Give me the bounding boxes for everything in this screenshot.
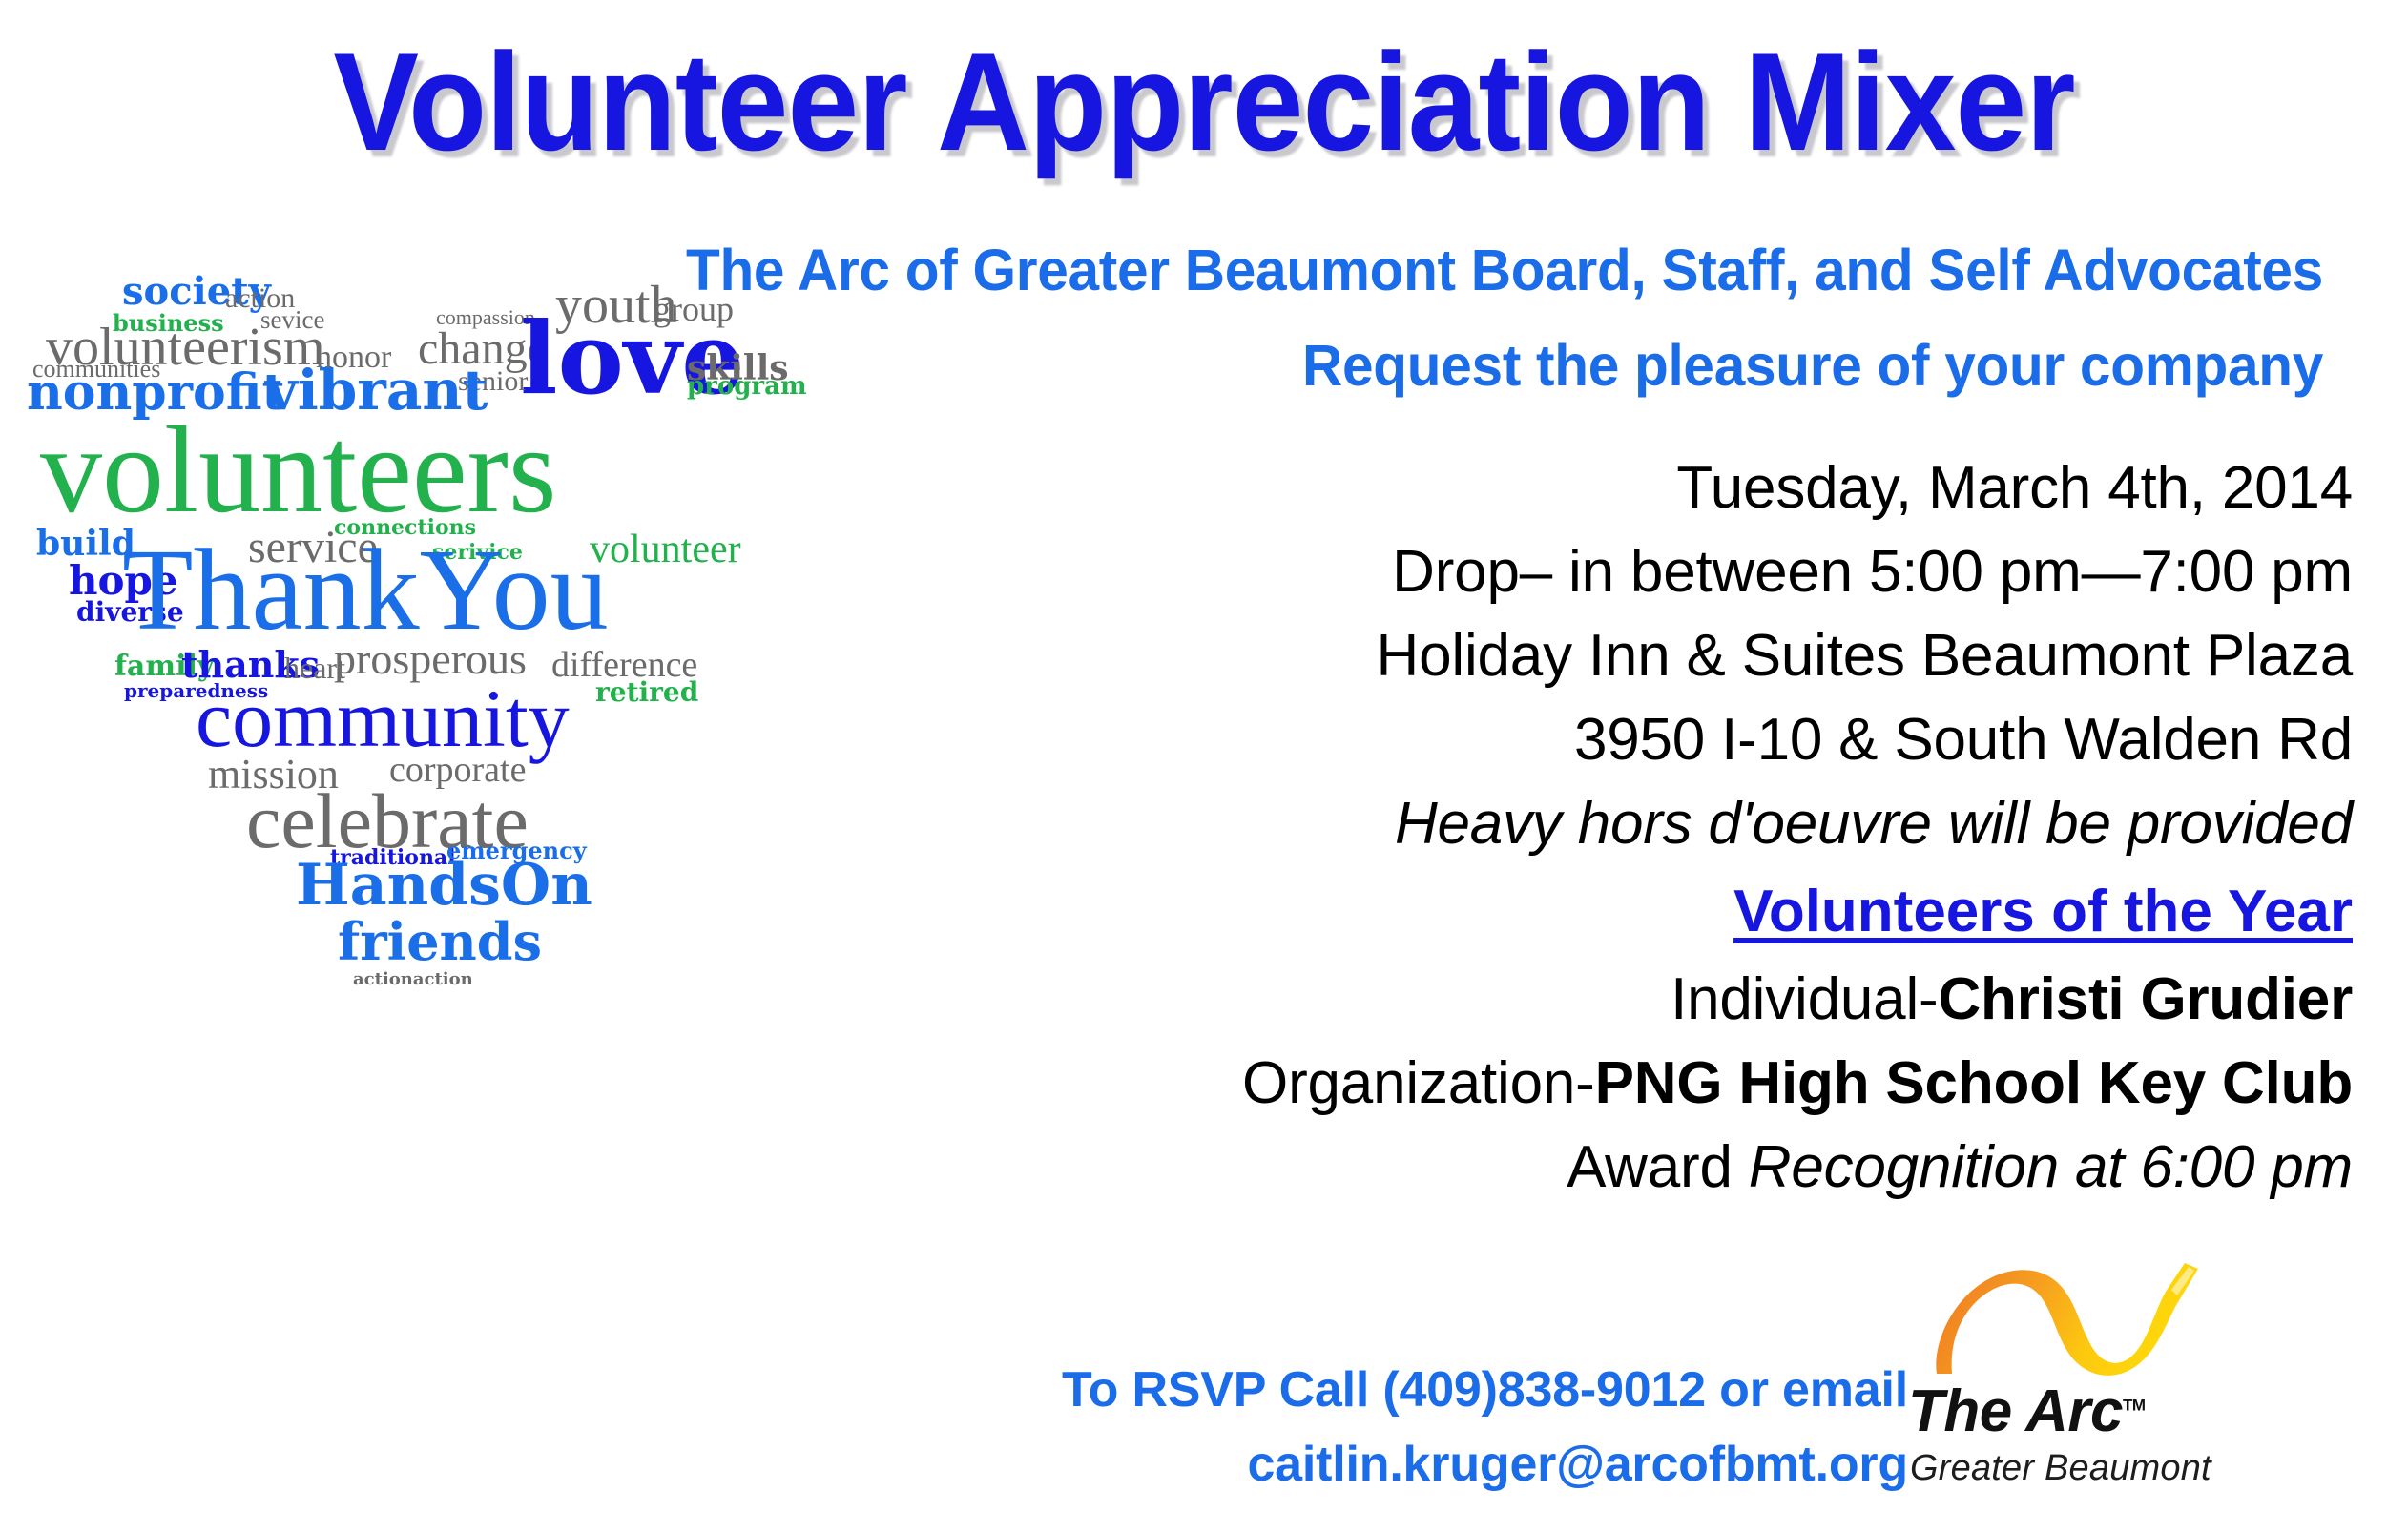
event-food-note: Heavy hors d'oeuvre will be provided [1179, 782, 2353, 866]
arc-logo: The ArcTM Greater Beaumont [1908, 1257, 2223, 1515]
word-cloud-word: actionaction [353, 971, 473, 988]
award-time-prefix: Award [1567, 1134, 1749, 1200]
page-title: Volunteer Appreciation Mixer [96, 32, 2312, 172]
event-details-block: Tuesday, March 4th, 2014 Drop– in betwee… [1179, 446, 2353, 1210]
flyer-canvas: Volunteer Appreciation Mixer The Arc of … [0, 0, 2408, 1533]
word-cloud-word: community [196, 677, 570, 759]
word-cloud-word: ThankYou [122, 532, 609, 649]
awards-heading: Volunteers of the Year [1179, 866, 2353, 958]
word-cloud-word: program [687, 374, 806, 399]
arc-logo-subtitle: Greater Beaumont [1910, 1448, 2211, 1489]
arc-logo-name: The ArcTM [1908, 1378, 2146, 1445]
word-cloud-word: HandsOn [296, 857, 592, 914]
award-org-label: Organization- [1242, 1050, 1595, 1116]
rsvp-block: To RSVP Call (409)838-9012 or email cait… [992, 1353, 1908, 1502]
event-time: Drop– in between 5:00 pm—7:00 pm [1179, 530, 2353, 614]
rsvp-phone-line[interactable]: To RSVP Call (409)838-9012 or email [992, 1353, 1908, 1427]
award-individual-label: Individual- [1671, 966, 1938, 1032]
event-date: Tuesday, March 4th, 2014 [1179, 446, 2353, 530]
award-org-name: PNG High School Key Club [1595, 1050, 2353, 1116]
arc-trademark: TM [2123, 1396, 2146, 1414]
word-cloud-image: societyactionbusinesssevicevolunteerismh… [19, 258, 773, 944]
word-cloud-word: friends [338, 916, 542, 967]
word-cloud-word: retired [595, 679, 698, 706]
award-organization: Organization-PNG High School Key Club [1179, 1042, 2353, 1126]
rsvp-email-line[interactable]: caitlin.kruger@arcofbmt.org [992, 1427, 1908, 1502]
title-block: Volunteer Appreciation Mixer [0, 32, 2408, 172]
event-venue: Holiday Inn & Suites Beaumont Plaza [1179, 614, 2353, 698]
award-recognition-time: Award Recognition at 6:00 pm [1179, 1126, 2353, 1210]
event-address: 3950 I-10 & South Walden Rd [1179, 698, 2353, 782]
arc-swoosh-icon [1925, 1257, 2221, 1386]
award-individual-name: Christi Grudier [1938, 966, 2353, 1032]
word-cloud-word: build [36, 527, 135, 561]
award-individual: Individual-Christi Grudier [1179, 958, 2353, 1042]
word-cloud-word: volunteers [40, 408, 557, 532]
arc-logo-name-text: The Arc [1908, 1378, 2123, 1444]
word-cloud-word: volunteer [590, 529, 741, 570]
award-time-value: Recognition at 6:00 pm [1749, 1134, 2353, 1200]
